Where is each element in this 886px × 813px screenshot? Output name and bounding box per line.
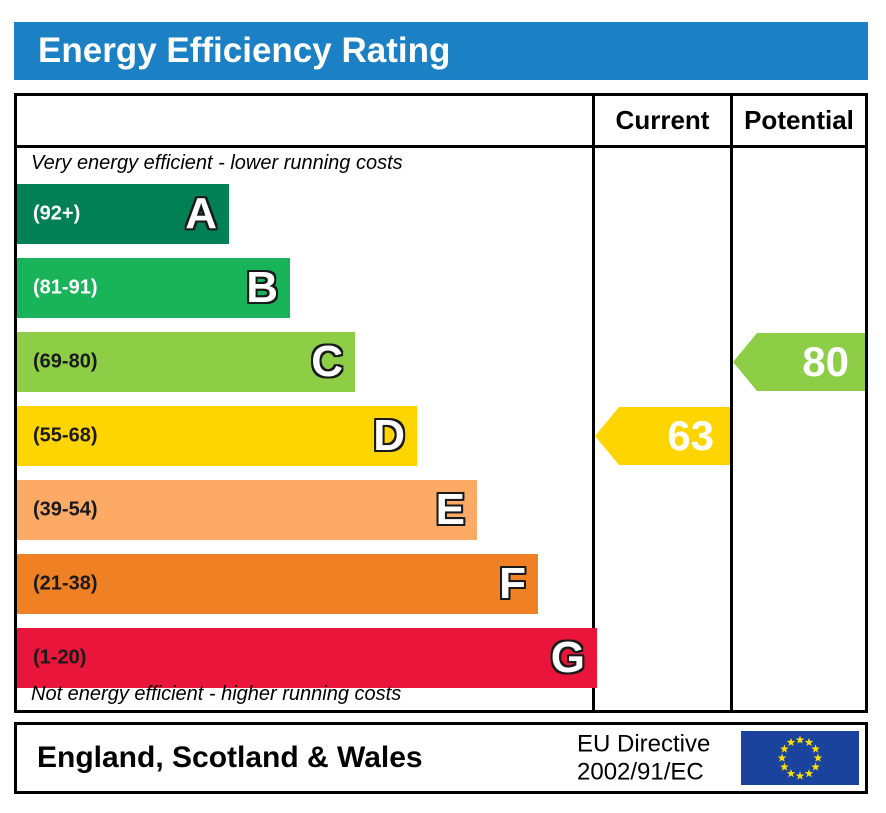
band-letter-f: F xyxy=(499,562,526,606)
band-letter-d: D xyxy=(373,414,405,458)
column-header-current: Current xyxy=(595,96,730,145)
directive-line-1: EU Directive xyxy=(577,730,710,758)
rating-value-current: 63 xyxy=(667,415,730,457)
band-range-d: (55-68) xyxy=(33,425,97,448)
band-letter-a: A xyxy=(185,192,217,236)
band-bar-g: (1-20)G xyxy=(17,628,597,688)
column-divider-potential xyxy=(730,96,733,710)
caption-inefficient: Not energy efficient - higher running co… xyxy=(31,683,401,706)
directive-line-2: 2002/91/EC xyxy=(577,758,710,786)
band-bar-e: (39-54)E xyxy=(17,480,477,540)
band-range-e: (39-54) xyxy=(33,499,97,522)
rating-arrow-potential: 80 xyxy=(733,333,865,391)
column-header-potential: Potential xyxy=(733,96,865,145)
band-bar-f: (21-38)F xyxy=(17,554,538,614)
energy-efficiency-certificate: Energy Efficiency Rating Current Potenti… xyxy=(0,0,886,813)
footer-region-label: England, Scotland & Wales xyxy=(37,741,423,775)
band-range-a: (92+) xyxy=(33,203,80,226)
band-letter-g: G xyxy=(551,636,585,680)
band-chart: Very energy efficient - lower running co… xyxy=(17,148,592,710)
eu-stars-icon xyxy=(741,731,859,785)
rating-value-potential: 80 xyxy=(802,341,865,383)
band-range-g: (1-20) xyxy=(33,647,86,670)
eu-flag-icon xyxy=(741,731,859,785)
band-bar-d: (55-68)D xyxy=(17,406,417,466)
band-range-f: (21-38) xyxy=(33,573,97,596)
band-range-b: (81-91) xyxy=(33,277,97,300)
column-divider-current xyxy=(592,96,595,710)
band-bar-c: (69-80)C xyxy=(17,332,355,392)
table-header-row: Current Potential xyxy=(17,96,865,148)
rating-table: Current Potential Very energy efficient … xyxy=(14,93,868,713)
certificate-title-banner: Energy Efficiency Rating xyxy=(14,22,868,80)
band-range-c: (69-80) xyxy=(33,351,97,374)
band-bar-b: (81-91)B xyxy=(17,258,290,318)
footer-directive-label: EU Directive 2002/91/EC xyxy=(577,730,710,785)
page-title: Energy Efficiency Rating xyxy=(38,31,450,71)
rating-arrow-current: 63 xyxy=(595,407,730,465)
band-letter-c: C xyxy=(311,340,343,384)
band-letter-e: E xyxy=(436,488,465,532)
band-bar-a: (92+)A xyxy=(17,184,229,244)
certificate-footer: England, Scotland & Wales EU Directive 2… xyxy=(14,722,868,794)
caption-efficient: Very energy efficient - lower running co… xyxy=(31,152,403,175)
band-letter-b: B xyxy=(246,266,278,310)
